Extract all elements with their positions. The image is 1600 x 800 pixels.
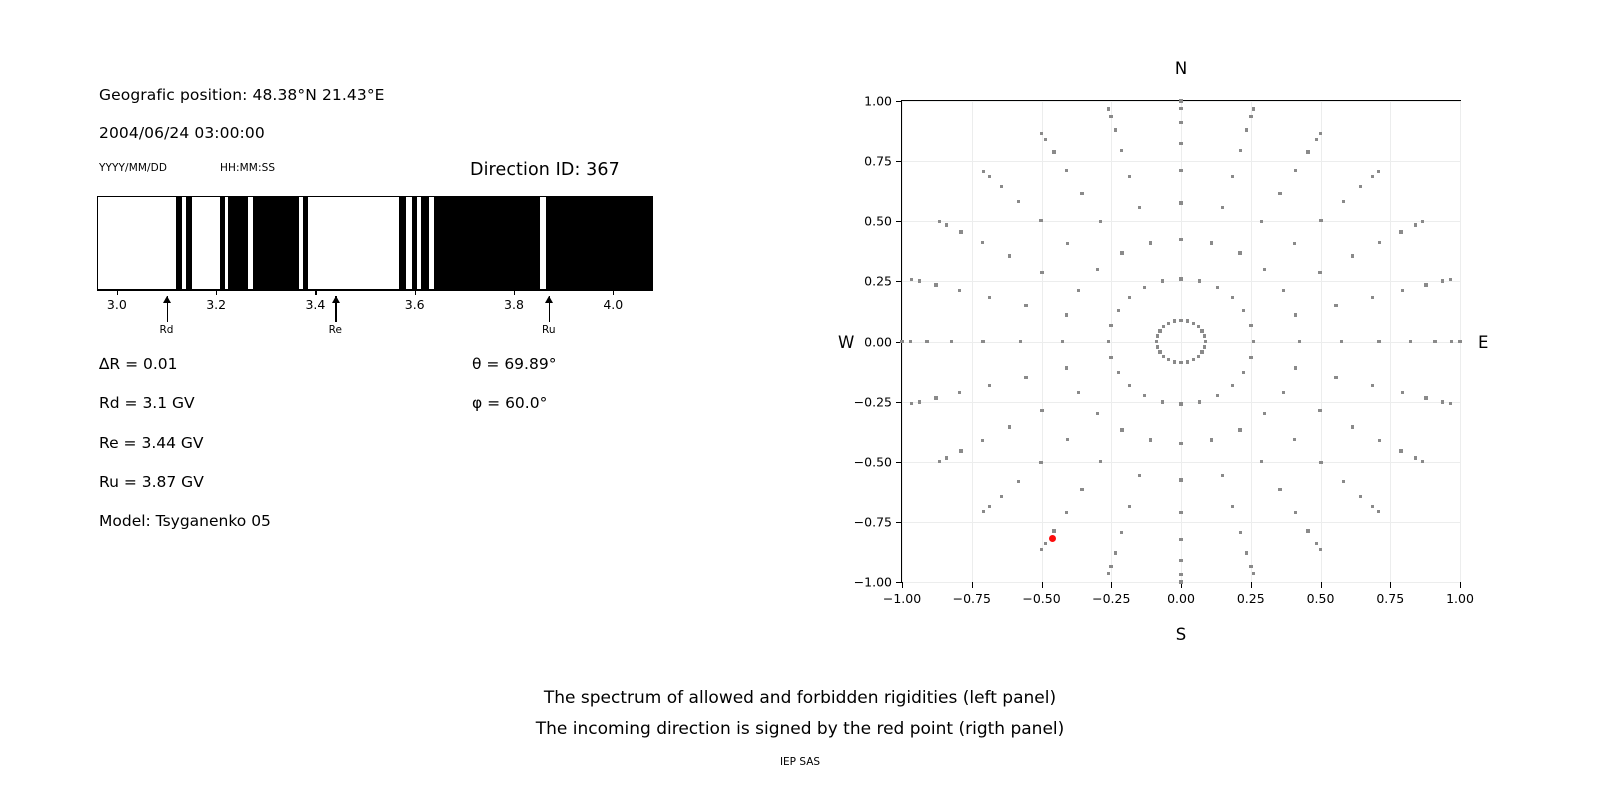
direction-point (1231, 505, 1234, 508)
direction-point (1149, 241, 1152, 244)
direction-point (1318, 271, 1321, 274)
direction-point (959, 449, 962, 452)
direction-point (958, 391, 961, 394)
direction-point (1099, 460, 1102, 463)
direction-point (1334, 376, 1337, 379)
direction-point (1128, 175, 1131, 178)
direction-point (1179, 277, 1182, 280)
direction-point (1424, 283, 1427, 286)
direction-point (1371, 384, 1374, 387)
direction-point (1450, 340, 1453, 343)
direction-point (1019, 340, 1022, 343)
direction-point (1260, 220, 1263, 223)
direction-point (1231, 175, 1234, 178)
direction-point (1024, 376, 1027, 379)
x-tick (1111, 582, 1112, 588)
y-tick (896, 221, 902, 222)
direction-point (1342, 200, 1345, 203)
direction-point (1252, 572, 1255, 575)
direction-point (1192, 322, 1195, 325)
direction-point (1315, 542, 1318, 545)
y-tick-label: 0.50 (864, 214, 892, 229)
caption-line-2: The incoming direction is signed by the … (0, 719, 1600, 739)
direction-point (1179, 511, 1182, 514)
x-tick-label: −0.25 (1092, 591, 1130, 606)
direction-point (950, 340, 953, 343)
y-tick-label: 0.75 (864, 154, 892, 169)
direction-point (1242, 309, 1245, 312)
direction-point (1008, 425, 1011, 428)
direction-point (1318, 409, 1321, 412)
direction-point (1249, 356, 1252, 359)
y-tick-label: −0.25 (854, 394, 892, 409)
x-tick (1321, 582, 1322, 588)
direction-point (1197, 355, 1200, 358)
direction-point (1433, 340, 1436, 343)
direction-point (1179, 169, 1182, 172)
direction-point (1414, 223, 1417, 226)
direction-point (1117, 309, 1120, 312)
direction-point (1052, 529, 1055, 532)
direction-point (1099, 220, 1102, 223)
direction-point (925, 340, 928, 343)
direction-point (1377, 510, 1380, 513)
x-tick-label: −0.75 (953, 591, 991, 606)
direction-point (1204, 340, 1207, 343)
direction-point (1008, 254, 1011, 257)
direction-point (1040, 409, 1043, 412)
incoming-direction-point (1049, 535, 1056, 542)
gridline-horizontal (902, 221, 1460, 222)
direction-point (1239, 531, 1242, 534)
y-tick-label: −0.75 (854, 514, 892, 529)
direction-point (988, 175, 991, 178)
direction-point (1149, 438, 1152, 441)
direction-point (1044, 138, 1047, 141)
y-tick (896, 101, 902, 102)
direction-point (1409, 340, 1412, 343)
direction-point (981, 241, 984, 244)
direction-point (1315, 138, 1318, 141)
direction-point (945, 223, 948, 226)
direction-point (1306, 150, 1309, 153)
direction-point (1039, 461, 1042, 464)
direction-point (1298, 340, 1301, 343)
direction-point (1238, 251, 1241, 254)
direction-point (938, 220, 941, 223)
direction-point (1334, 304, 1337, 307)
direction-point (1143, 394, 1146, 397)
direction-point (1096, 268, 1099, 271)
direction-point (1252, 340, 1255, 343)
direction-point (1109, 565, 1112, 568)
direction-point (1282, 391, 1285, 394)
direction-point (1239, 149, 1242, 152)
compass-south-label: S (1176, 625, 1186, 644)
direction-point (1138, 474, 1141, 477)
direction-point (1401, 289, 1404, 292)
direction-point (1371, 505, 1374, 508)
direction-point (1179, 107, 1182, 110)
direction-point (1179, 142, 1182, 145)
direction-point (1120, 531, 1123, 534)
direction-point (1077, 289, 1080, 292)
direction-point (981, 340, 984, 343)
direction-point (1161, 279, 1164, 282)
direction-point (1107, 572, 1110, 575)
y-tick-label: −0.50 (854, 454, 892, 469)
direction-point (1359, 495, 1362, 498)
direction-point (1155, 340, 1158, 343)
direction-point (1351, 254, 1354, 257)
direction-point (1167, 358, 1170, 361)
direction-point (1359, 185, 1362, 188)
direction-point (1377, 340, 1380, 343)
direction-map-panel: −1.00−0.75−0.50−0.250.000.250.500.751.00… (0, 0, 1600, 660)
direction-point (1065, 169, 1068, 172)
direction-point (938, 460, 941, 463)
direction-point (1117, 371, 1120, 374)
direction-point (958, 289, 961, 292)
direction-point (1278, 192, 1281, 195)
direction-point (1173, 319, 1176, 322)
direction-point (1186, 319, 1189, 322)
direction-point (909, 340, 912, 343)
direction-point (1203, 334, 1206, 337)
y-tick-label: 0.25 (864, 274, 892, 289)
direction-point (1245, 551, 1248, 554)
direction-point (1179, 121, 1182, 124)
direction-point (1378, 439, 1381, 442)
direction-point (1061, 340, 1064, 343)
direction-point (918, 279, 921, 282)
direction-point (1216, 286, 1219, 289)
x-tick-label: −0.50 (1022, 591, 1060, 606)
direction-point (1371, 175, 1374, 178)
direction-point (1179, 402, 1182, 405)
direction-point (1138, 206, 1141, 209)
x-tick-label: 1.00 (1446, 591, 1474, 606)
direction-point (1449, 278, 1452, 281)
direction-point (1319, 219, 1322, 222)
direction-point (1399, 230, 1402, 233)
direction-point (1231, 384, 1234, 387)
direction-point (1200, 350, 1203, 353)
direction-point (1000, 495, 1003, 498)
direction-point (1179, 201, 1182, 204)
polar-scatter-plot: −1.00−0.75−0.50−0.250.000.250.500.751.00… (901, 100, 1461, 583)
direction-point (1109, 324, 1112, 327)
direction-point (1252, 107, 1255, 110)
direction-point (1000, 185, 1003, 188)
direction-point (1263, 268, 1266, 271)
direction-point (1242, 371, 1245, 374)
compass-west-label: W (838, 333, 854, 352)
direction-point (1294, 169, 1297, 172)
direction-point (1080, 192, 1083, 195)
direction-point (1377, 170, 1380, 173)
direction-point (1421, 220, 1424, 223)
compass-east-label: E (1478, 333, 1488, 352)
x-tick (1251, 582, 1252, 588)
gridline-horizontal (902, 462, 1460, 463)
direction-point (1156, 345, 1159, 348)
direction-point (1040, 132, 1043, 135)
direction-point (1186, 360, 1189, 363)
direction-point (1371, 296, 1374, 299)
direction-point (1179, 361, 1182, 364)
direction-point (1421, 460, 1424, 463)
x-tick (972, 582, 973, 588)
direction-point (1179, 580, 1182, 583)
y-tick (896, 462, 902, 463)
direction-point (1192, 358, 1195, 361)
direction-point (1399, 449, 1402, 452)
x-tick-label: 0.25 (1237, 591, 1265, 606)
direction-point (1179, 238, 1182, 241)
direction-point (1179, 559, 1182, 562)
direction-point (1162, 355, 1165, 358)
x-tick (1460, 582, 1461, 588)
direction-point (1179, 442, 1182, 445)
direction-point (1107, 107, 1110, 110)
x-tick-label: 0.00 (1167, 591, 1195, 606)
x-tick (1042, 582, 1043, 588)
direction-point (1198, 279, 1201, 282)
direction-point (1294, 366, 1297, 369)
direction-point (1167, 322, 1170, 325)
gridline-horizontal (902, 342, 1460, 343)
direction-point (1342, 480, 1345, 483)
direction-point (1179, 99, 1182, 102)
direction-point (1120, 149, 1123, 152)
direction-point (982, 510, 985, 513)
direction-point (1245, 128, 1248, 131)
direction-point (1294, 511, 1297, 514)
direction-point (1128, 505, 1131, 508)
direction-point (1120, 251, 1123, 254)
gridline-horizontal (902, 522, 1460, 523)
y-tick (896, 161, 902, 162)
x-tick-label: −1.00 (883, 591, 921, 606)
direction-point (1294, 313, 1297, 316)
direction-point (1162, 325, 1165, 328)
direction-point (1017, 480, 1020, 483)
direction-point (1065, 366, 1068, 369)
direction-point (1128, 384, 1131, 387)
direction-point (1306, 529, 1309, 532)
direction-point (982, 170, 985, 173)
direction-point (900, 340, 903, 343)
x-tick-label: 0.50 (1307, 591, 1335, 606)
direction-point (1024, 304, 1027, 307)
direction-point (910, 278, 913, 281)
direction-point (1156, 334, 1159, 337)
direction-point (1319, 132, 1322, 135)
direction-point (1293, 438, 1296, 441)
direction-point (1200, 329, 1203, 332)
gridline-horizontal (902, 161, 1460, 162)
direction-point (1066, 438, 1069, 441)
direction-point (988, 505, 991, 508)
direction-point (1319, 548, 1322, 551)
direction-point (910, 402, 913, 405)
direction-point (1128, 296, 1131, 299)
direction-point (1143, 286, 1146, 289)
direction-point (1096, 412, 1099, 415)
direction-point (1216, 394, 1219, 397)
direction-point (1198, 400, 1201, 403)
y-tick-label: 0.00 (864, 334, 892, 349)
direction-point (934, 396, 937, 399)
direction-point (988, 296, 991, 299)
direction-point (1441, 279, 1444, 282)
direction-point (1052, 150, 1055, 153)
direction-point (1109, 356, 1112, 359)
direction-point (1210, 438, 1213, 441)
direction-point (1066, 242, 1069, 245)
direction-point (1040, 271, 1043, 274)
direction-point (1260, 460, 1263, 463)
y-tick-label: −1.00 (854, 575, 892, 590)
direction-point (1282, 289, 1285, 292)
gridline-horizontal (902, 281, 1460, 282)
direction-point (1249, 324, 1252, 327)
direction-point (1077, 391, 1080, 394)
direction-point (918, 400, 921, 403)
caption-line-1: The spectrum of allowed and forbidden ri… (0, 688, 1600, 708)
direction-point (1249, 115, 1252, 118)
direction-point (1203, 345, 1206, 348)
direction-point (1158, 329, 1161, 332)
direction-point (1414, 456, 1417, 459)
direction-point (1401, 391, 1404, 394)
x-tick-label: 0.75 (1376, 591, 1404, 606)
compass-north-label: N (1175, 59, 1187, 78)
direction-point (1351, 425, 1354, 428)
direction-point (1378, 241, 1381, 244)
direction-point (1080, 488, 1083, 491)
direction-point (1120, 428, 1123, 431)
direction-point (1044, 542, 1047, 545)
direction-point (1179, 478, 1182, 481)
direction-point (934, 283, 937, 286)
direction-point (981, 439, 984, 442)
x-tick (1390, 582, 1391, 588)
direction-point (1340, 340, 1343, 343)
direction-point (1458, 340, 1461, 343)
direction-point (1197, 325, 1200, 328)
y-tick (896, 402, 902, 403)
direction-point (1039, 219, 1042, 222)
y-tick-label: 1.00 (864, 94, 892, 109)
direction-point (1114, 551, 1117, 554)
direction-point (1173, 360, 1176, 363)
direction-point (1221, 474, 1224, 477)
direction-point (1158, 350, 1161, 353)
direction-point (1107, 340, 1110, 343)
direction-point (1238, 428, 1241, 431)
direction-point (1114, 128, 1117, 131)
direction-point (1293, 242, 1296, 245)
direction-point (1231, 296, 1234, 299)
direction-point (1319, 461, 1322, 464)
direction-point (988, 384, 991, 387)
direction-point (1040, 548, 1043, 551)
direction-point (1065, 313, 1068, 316)
direction-point (1221, 206, 1224, 209)
direction-point (1424, 396, 1427, 399)
y-tick (896, 522, 902, 523)
direction-point (959, 230, 962, 233)
direction-point (1065, 511, 1068, 514)
direction-point (1179, 538, 1182, 541)
y-tick (896, 281, 902, 282)
direction-point (1179, 573, 1182, 576)
direction-point (1109, 115, 1112, 118)
footer-label: IEP SAS (0, 756, 1600, 768)
direction-point (1278, 488, 1281, 491)
direction-point (1017, 200, 1020, 203)
x-tick (902, 582, 903, 588)
direction-point (945, 456, 948, 459)
direction-point (1179, 319, 1182, 322)
direction-point (1249, 565, 1252, 568)
direction-point (1263, 412, 1266, 415)
direction-point (1441, 400, 1444, 403)
direction-point (1210, 241, 1213, 244)
direction-point (1161, 400, 1164, 403)
direction-point (1449, 402, 1452, 405)
